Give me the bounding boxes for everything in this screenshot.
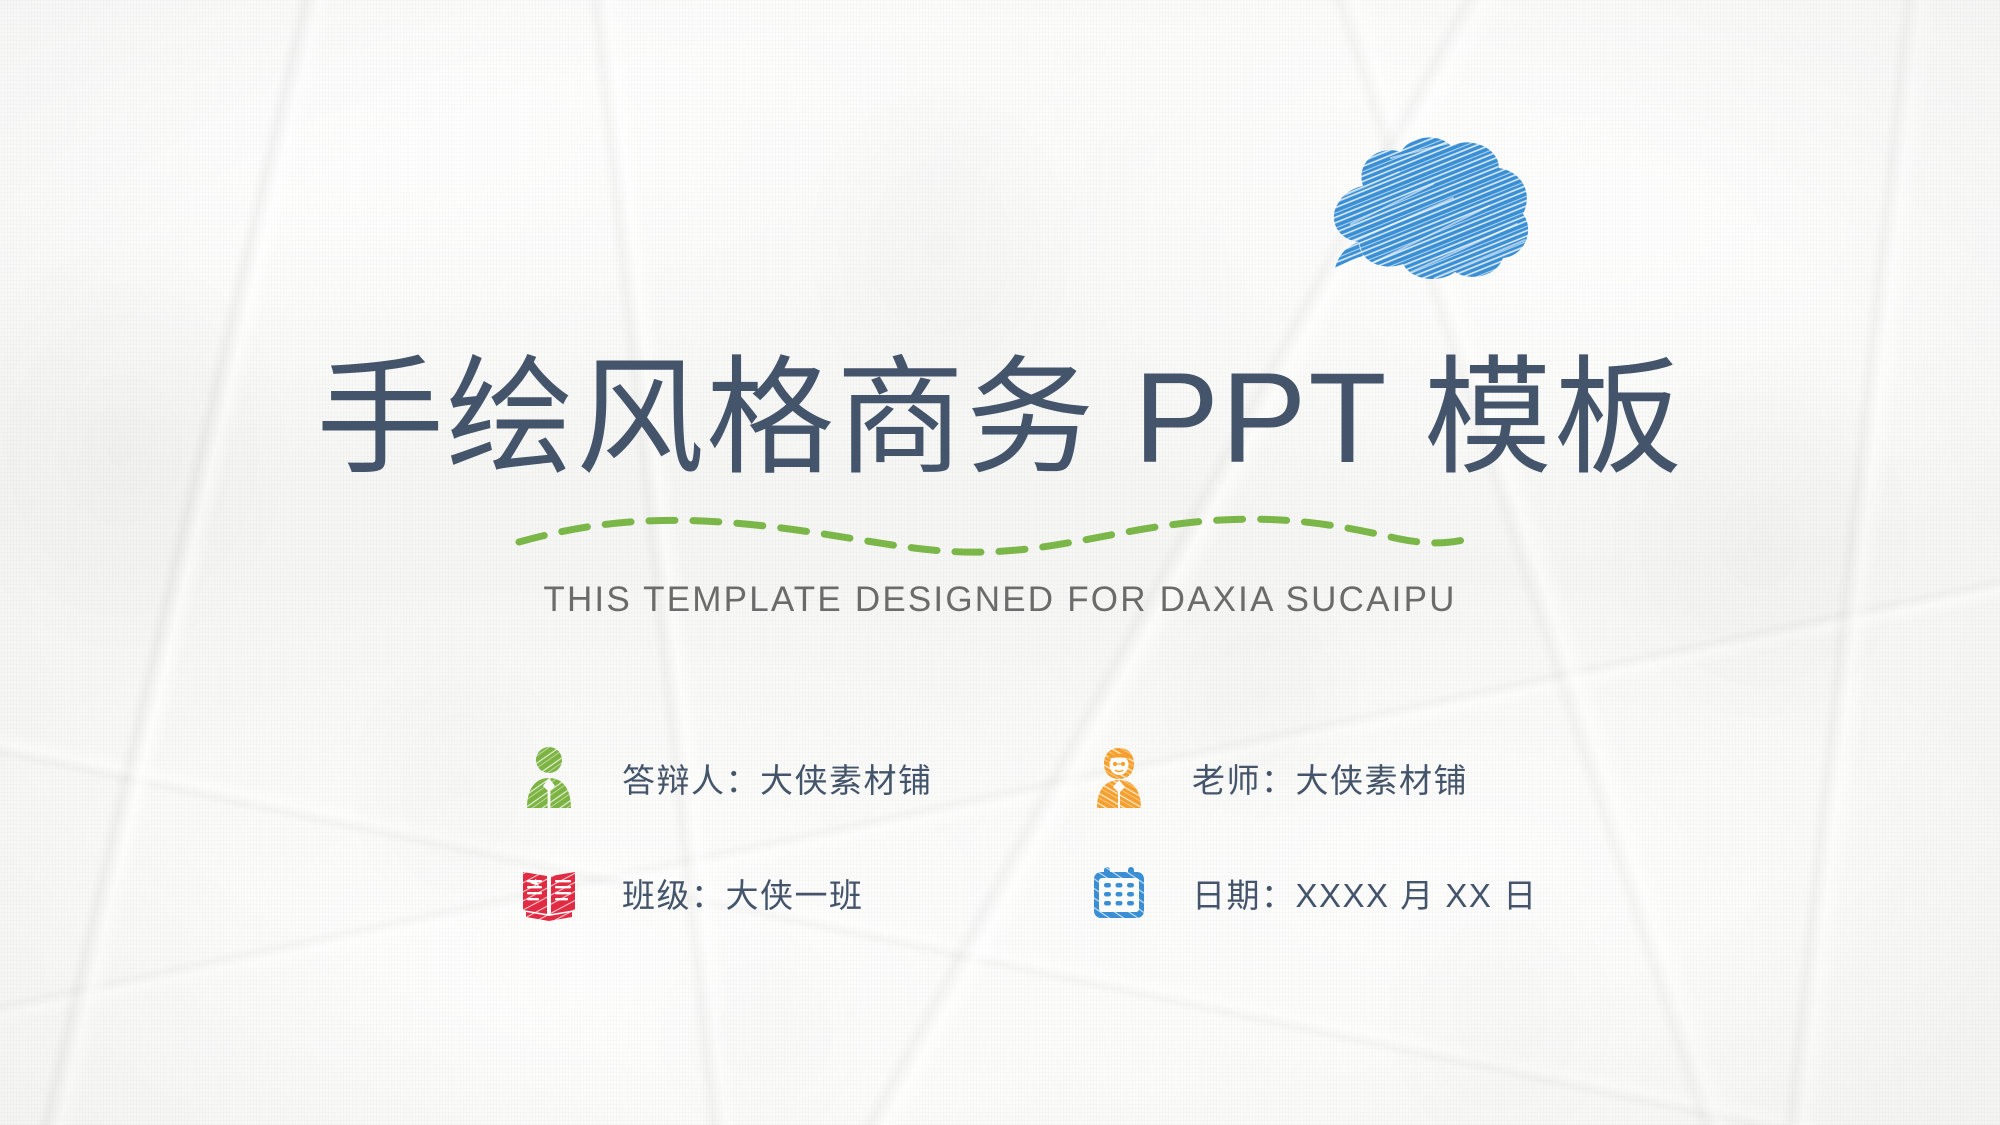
wave-divider [515, 508, 1475, 558]
slide-canvas: 手绘风格商务 PPT 模板 THIS TEMPLATE DESIGNED FOR… [0, 0, 2000, 1125]
person-icon [520, 742, 578, 814]
info-grid: 答辩人：大侠素材铺 [520, 742, 1620, 926]
page-title-text: 手绘风格商务 PPT 模板 [316, 347, 1684, 490]
open-book-icon [520, 860, 578, 926]
info-item-label: 日期：XXXX 月 XX 日 [1192, 869, 1538, 917]
info-row: 班级：大侠一班 [520, 860, 1620, 926]
info-item-label: 班级：大侠一班 [622, 869, 864, 917]
dashed-wavy-divider-icon [515, 508, 1475, 558]
info-item-teacher: 老师：大侠素材铺 [1090, 742, 1620, 814]
info-row: 答辩人：大侠素材铺 [520, 742, 1620, 814]
info-item-date: 日期：XXXX 月 XX 日 [1090, 860, 1620, 926]
page-subtitle: THIS TEMPLATE DESIGNED FOR DAXIA SUCAIPU [0, 580, 2000, 620]
teacher-icon [1090, 742, 1148, 814]
speech-bubble-cloud-icon [1303, 128, 1543, 298]
slide-content: 手绘风格商务 PPT 模板 THIS TEMPLATE DESIGNED FOR… [0, 0, 2000, 1125]
page-title: 手绘风格商务 PPT 模板 [0, 352, 2000, 486]
info-item-label: 老师：大侠素材铺 [1192, 754, 1468, 802]
calendar-icon [1090, 860, 1148, 926]
info-item-presenter: 答辩人：大侠素材铺 [520, 742, 1090, 814]
cloud-decoration [1303, 128, 1543, 298]
info-item-label: 答辩人：大侠素材铺 [622, 754, 933, 802]
page-subtitle-text: THIS TEMPLATE DESIGNED FOR DAXIA SUCAIPU [543, 580, 1456, 619]
info-item-class: 班级：大侠一班 [520, 860, 1090, 926]
